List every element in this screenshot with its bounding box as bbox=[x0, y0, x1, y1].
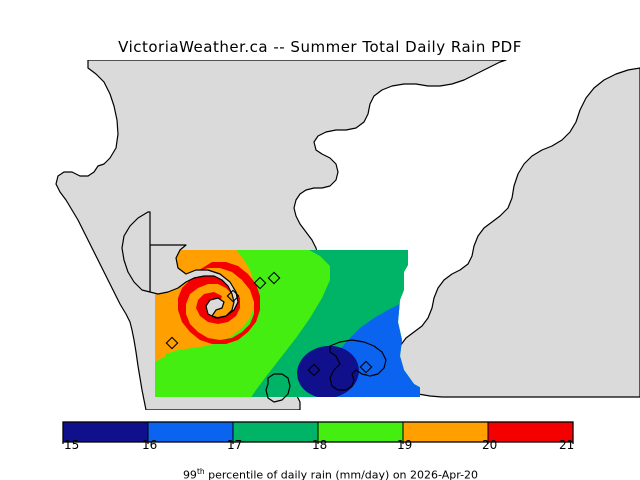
colorbar-tick-label: 15 bbox=[64, 438, 79, 452]
colorbar-tick-label: 19 bbox=[397, 438, 412, 452]
colorbar-caption: 99th percentile of daily rain (mm/day) o… bbox=[0, 454, 640, 480]
contour-field bbox=[150, 245, 420, 405]
map-canvas bbox=[0, 60, 640, 410]
colorbar-tick-label: 18 bbox=[312, 438, 327, 452]
colorbar-band[interactable] bbox=[233, 422, 318, 442]
map-panel bbox=[0, 60, 640, 410]
colorbar-panel: 15161718192021 99th percentile of daily … bbox=[0, 418, 640, 480]
colorbar-band[interactable] bbox=[403, 422, 488, 442]
colorbar-tick-label: 17 bbox=[227, 438, 242, 452]
caption-prefix: 99 bbox=[183, 469, 197, 480]
colorbar-tick-label: 21 bbox=[559, 438, 574, 452]
page-title: VictoriaWeather.ca -- Summer Total Daily… bbox=[0, 38, 640, 56]
weather-map-page: VictoriaWeather.ca -- Summer Total Daily… bbox=[0, 0, 640, 480]
colorbar-tick-label: 20 bbox=[482, 438, 497, 452]
colorbar-tick-label: 16 bbox=[142, 438, 157, 452]
caption-superscript: th bbox=[197, 467, 205, 476]
caption-rest: percentile of daily rain (mm/day) on 202… bbox=[205, 469, 478, 480]
colorbar-band[interactable] bbox=[148, 422, 233, 442]
colorbar-band[interactable] bbox=[318, 422, 403, 442]
